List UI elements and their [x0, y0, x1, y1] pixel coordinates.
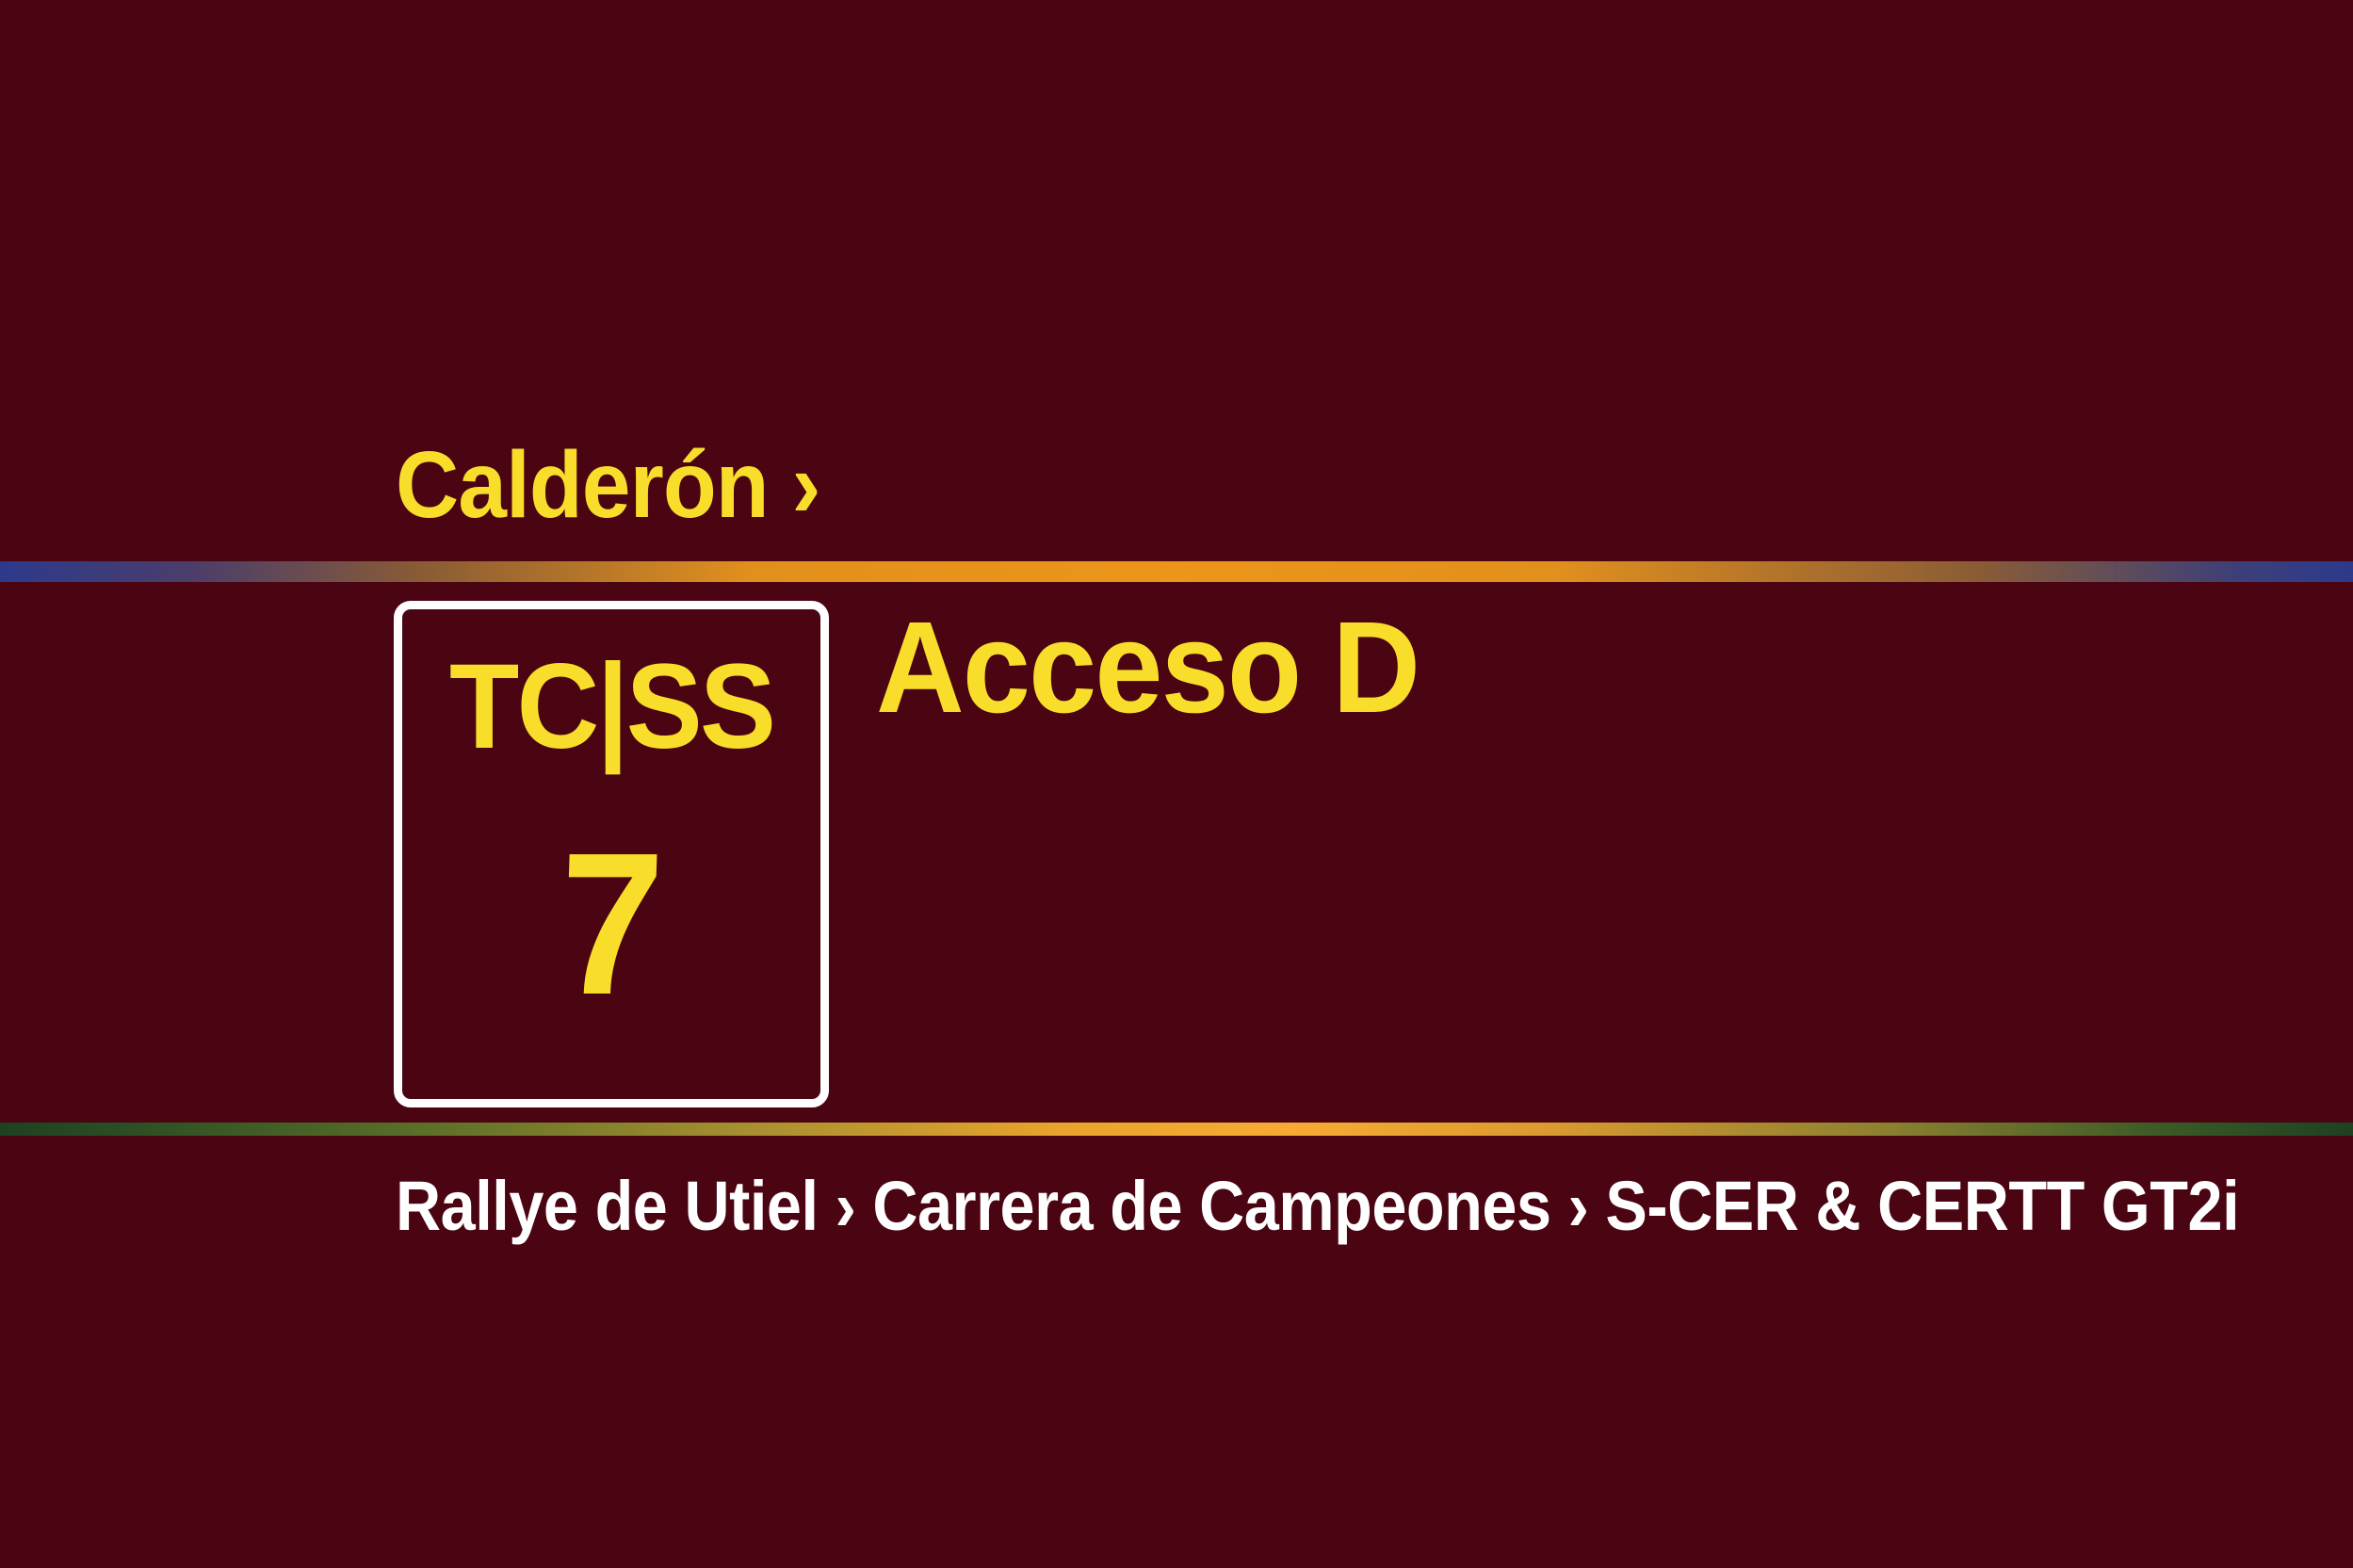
stage-badge: TC|SS 7 — [394, 601, 829, 1107]
breadcrumb-top-label: Calderón › — [396, 438, 820, 532]
badge-code-label: TC|SS — [449, 647, 773, 768]
breadcrumb-bottom: Rallye de Utiel › Carrera de Campeones ›… — [396, 1168, 2239, 1244]
divider-bottom — [0, 1123, 2353, 1136]
divider-top — [0, 561, 2353, 582]
breadcrumb-top: Calderón › — [396, 428, 852, 542]
rally-stage-sign: Calderón › TC|SS 7 Acceso D Rallye de Ut… — [0, 0, 2353, 1568]
badge-number-label: 7 — [557, 822, 667, 1025]
page-title: Acceso D — [876, 603, 1419, 733]
